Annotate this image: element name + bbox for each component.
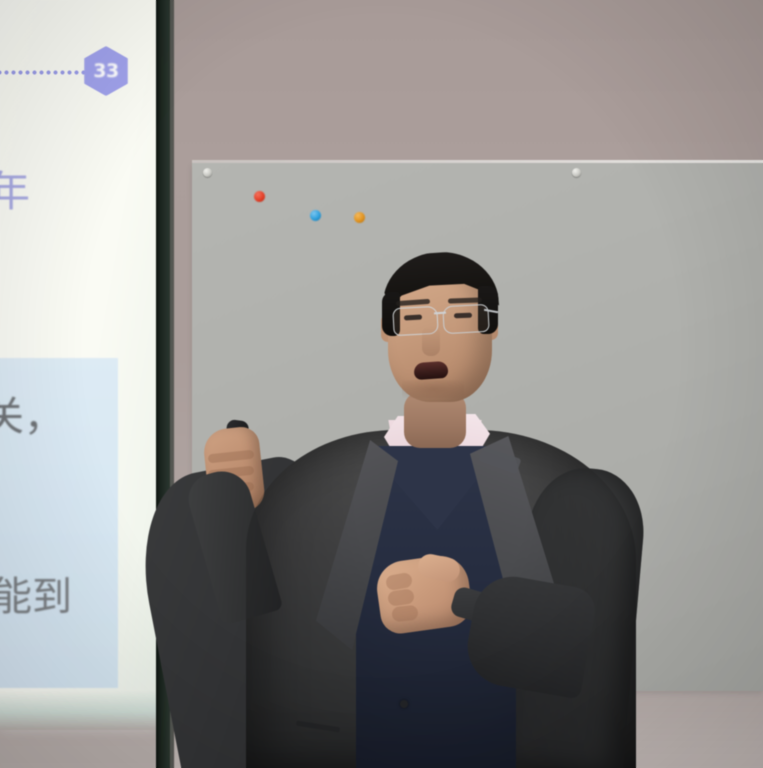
presenter-chin-shadow xyxy=(402,380,464,398)
glasses-lens-right xyxy=(442,304,489,334)
presenter-nose xyxy=(422,326,440,356)
presenter-mouth xyxy=(413,361,448,380)
jacket-button xyxy=(400,700,408,708)
presenter xyxy=(0,0,763,768)
photo-scene: 33 年 关， 能到 xyxy=(0,0,763,768)
